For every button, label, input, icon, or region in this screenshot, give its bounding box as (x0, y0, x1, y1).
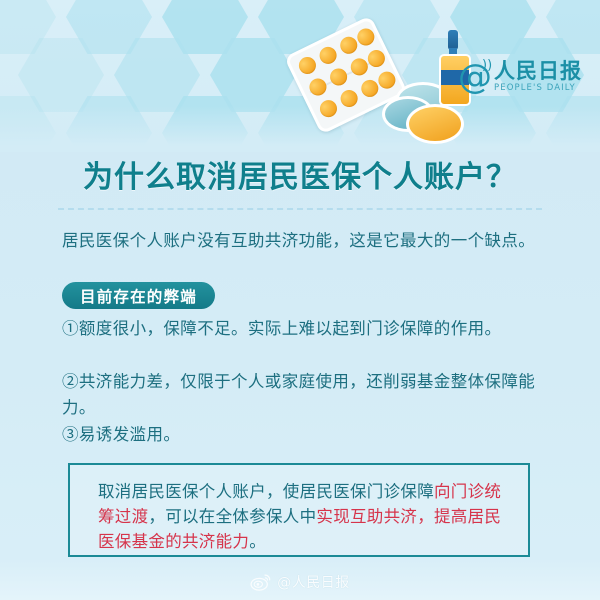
page-title: 为什么取消居民医保个人账户？ (0, 152, 600, 196)
footer-handle: @人民日报 (277, 572, 350, 592)
poster-root: @ )) 人民日报 PEOPLE'S DAILY 为什么取消居民医保个人账户？ … (0, 0, 600, 600)
signal-waves-icon: )) (482, 58, 492, 73)
list-item: ①额度很小，保障不足。实际上难以起到门诊保障的作用。 (62, 316, 540, 342)
callout-segment-1: 取消居民医保个人账户，使居民医保门诊保障 (98, 482, 434, 501)
intro-paragraph: 居民医保个人账户没有互助共济功能，这是它最大的一个缺点。 (62, 228, 540, 254)
logo-wordmark: 人民日报 PEOPLE'S DAILY (494, 60, 582, 94)
footer-watermark: @人民日报 (0, 572, 600, 592)
callout-segment-5: 。 (249, 532, 266, 551)
callout-box: 取消居民医保个人账户，使居民医保门诊保障向门诊统筹过渡，可以在全体参保人中实现互… (68, 463, 530, 557)
status-badge: 目前存在的弊端 (62, 282, 215, 309)
logo-name-en: PEOPLE'S DAILY (494, 83, 582, 94)
badge-label: 目前存在的弊端 (80, 285, 197, 307)
bottle-cap (448, 30, 458, 50)
list-item: ②共济能力差，仅限于个人或家庭使用，还削弱基金整体保障能力。 (62, 369, 540, 421)
list-item: ③易诱发滥用。 (62, 422, 540, 448)
honeycomb-fade (0, 106, 600, 152)
tablet-disc (406, 104, 464, 144)
logo-name-cn: 人民日报 (494, 60, 582, 83)
title-divider (58, 208, 542, 210)
callout-segment-3: ，可以在全体参保人中 (148, 507, 316, 526)
callout-text: 取消居民医保个人账户，使居民医保门诊保障向门诊统筹过渡，可以在全体参保人中实现互… (98, 479, 510, 554)
weibo-icon (250, 573, 272, 591)
peoples-daily-logo: @ )) 人民日报 PEOPLE'S DAILY (458, 60, 586, 108)
